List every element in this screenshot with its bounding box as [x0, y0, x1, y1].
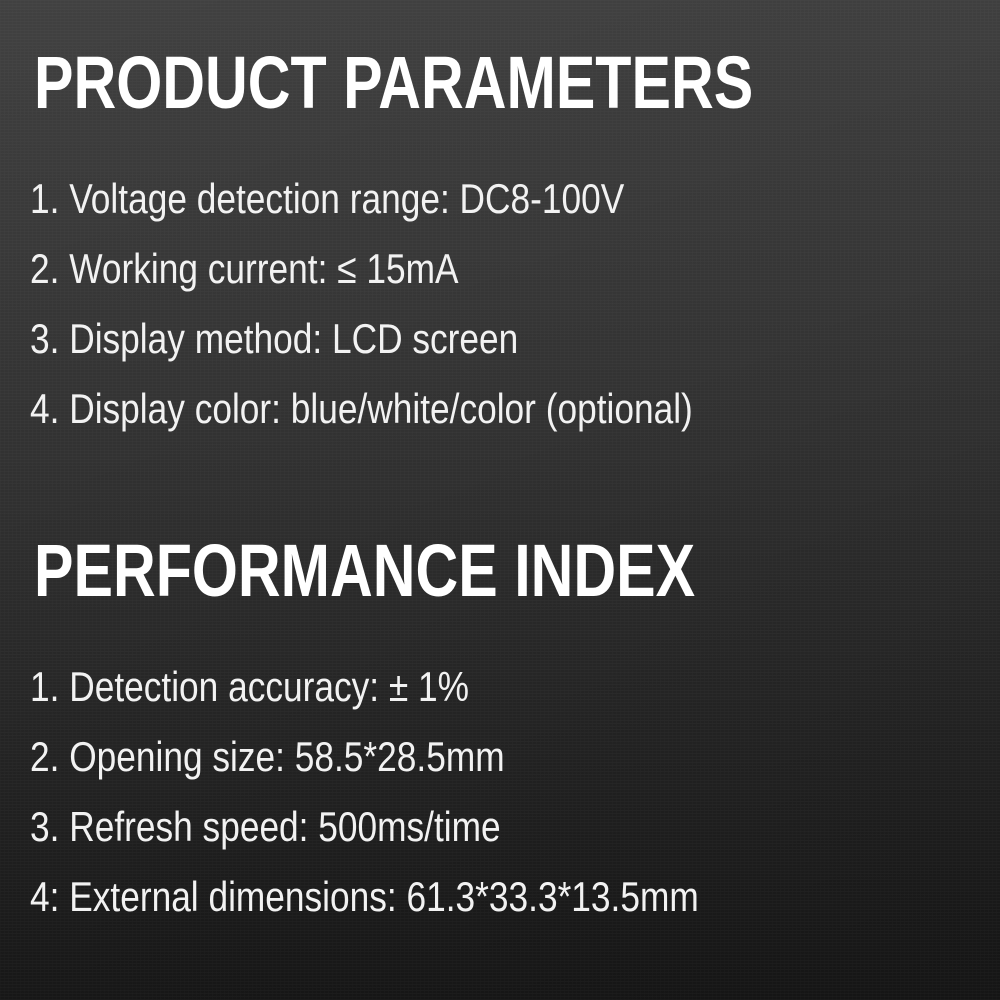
list-item: 2. Working current: ≤ 15mA — [30, 234, 845, 304]
product-parameters-list: 1. Voltage detection range: DC8-100V 2. … — [0, 164, 1000, 444]
list-item: 4: External dimensions: 61.3*33.3*13.5mm — [30, 862, 845, 932]
list-item: 2. Opening size: 58.5*28.5mm — [30, 722, 845, 792]
performance-index-list: 1. Detection accuracy: ± 1% 2. Opening s… — [0, 652, 1000, 932]
performance-index-heading: PERFORMANCE INDEX — [34, 534, 807, 608]
product-spec-panel: PRODUCT PARAMETERS 1. Voltage detection … — [0, 0, 1000, 1000]
product-parameters-heading: PRODUCT PARAMETERS — [34, 46, 807, 120]
list-item: 3. Display method: LCD screen — [30, 304, 845, 374]
section-performance-index: PERFORMANCE INDEX 1. Detection accuracy:… — [0, 534, 1000, 932]
list-item: 1. Detection accuracy: ± 1% — [30, 652, 845, 722]
list-item: 1. Voltage detection range: DC8-100V — [30, 164, 845, 234]
list-item: 4. Display color: blue/white/color (opti… — [30, 374, 845, 444]
section-product-parameters: PRODUCT PARAMETERS 1. Voltage detection … — [0, 46, 1000, 444]
list-item: 3. Refresh speed: 500ms/time — [30, 792, 845, 862]
